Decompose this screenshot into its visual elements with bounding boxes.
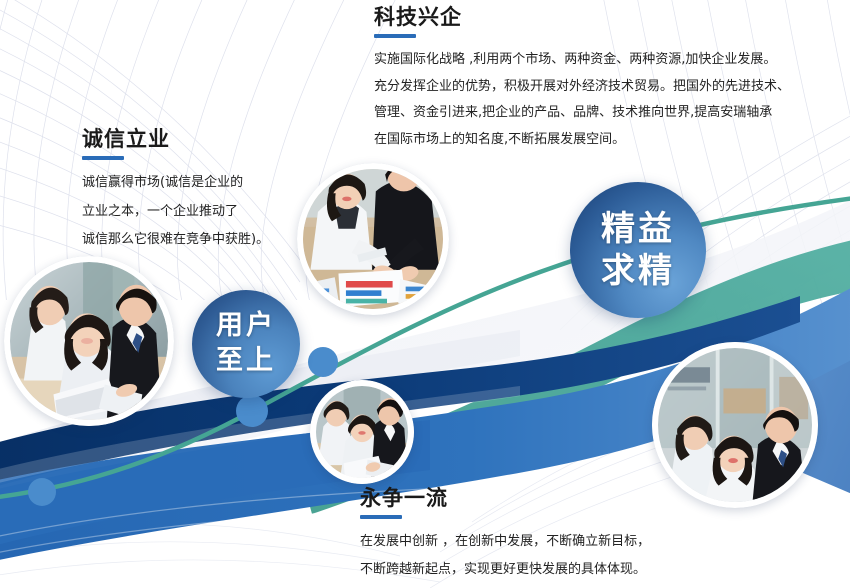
- badge-jingyi-line2: 求精: [601, 250, 675, 293]
- section-chengxin-liye: 诚信立业 诚信赢得市场(诚信是企业的 立业之本，一个企业推动了 诚信那么它很难在…: [82, 128, 269, 255]
- badge-jingyi-qiujing: 精益 求精: [570, 182, 706, 318]
- photo-circle-collaboration: [310, 380, 414, 484]
- section-yongzheng-yiliu: 永争一流 在发展中创新 ，在创新中发展，不断确立新目标， 不断跨越新起点，实现更…: [360, 487, 650, 584]
- section-keji-body: 实施国际化战略 ,利用两个市场、两种资金、两种资源,加快企业发展。 充分发挥企业…: [374, 47, 790, 154]
- section-keji-xingqi: 科技兴企 实施国际化战略 ,利用两个市场、两种资金、两种资源,加快企业发展。 充…: [374, 6, 790, 154]
- chengxin-line-1: 诚信赢得市场(诚信是企业的: [82, 169, 269, 198]
- photo-image-collaboration: [316, 386, 408, 478]
- photo-circle-charts-review: [297, 163, 449, 315]
- infographic-canvas: 用户 至上 精益 求精 科技兴企 实施国际化战略 ,利用两个市场、两种资金、两种…: [0, 0, 850, 588]
- keji-line-3: 管理、资金引进来,把企业的产品、品牌、技术推向世界,提高安瑞轴承: [374, 100, 790, 127]
- photo-image-charts-review: [303, 169, 443, 309]
- chengxin-accent-bar: [82, 156, 124, 160]
- badge-yonghu-zhishang: 用户 至上: [192, 290, 300, 398]
- keji-line-4: 在国际市场上的知名度,不断拓展发展空间。: [374, 127, 790, 154]
- yongzheng-accent-bar: [360, 515, 402, 519]
- section-chengxin-body: 诚信赢得市场(诚信是企业的 立业之本，一个企业推动了 诚信那么它很难在竞争中获胜…: [82, 169, 269, 255]
- yongzheng-line-1: 在发展中创新 ，在创新中发展，不断确立新目标，: [360, 528, 650, 556]
- yongzheng-line-2: 不断跨越新起点，实现更好更快发展的具体体现。: [360, 556, 650, 584]
- node-dot-2: [236, 395, 268, 427]
- keji-line-2: 充分发挥企业的优势，积极开展对外经济技术贸易。把国外的先进技术、: [374, 74, 790, 101]
- section-keji-heading: 科技兴企: [374, 6, 790, 29]
- keji-line-1: 实施国际化战略 ,利用两个市场、两种资金、两种资源,加快企业发展。: [374, 47, 790, 74]
- section-yongzheng-body: 在发展中创新 ，在创新中发展，不断确立新目标， 不断跨越新起点，实现更好更快发展…: [360, 528, 650, 584]
- node-dot-3: [308, 347, 338, 377]
- section-yongzheng-heading: 永争一流: [360, 487, 650, 510]
- photo-circle-office-team: [652, 342, 818, 508]
- photo-image-team-desk: [10, 262, 168, 420]
- section-chengxin-heading: 诚信立业: [82, 128, 269, 151]
- badge-yonghu-line1: 用户: [216, 309, 276, 344]
- node-dot-1: [28, 478, 56, 506]
- photo-circle-team-desk: [4, 256, 174, 426]
- keji-accent-bar: [374, 34, 416, 38]
- badge-yonghu-line2: 至上: [216, 344, 276, 379]
- chengxin-line-3: 诚信那么它很难在竞争中获胜)。: [82, 226, 269, 255]
- chengxin-line-2: 立业之本，一个企业推动了: [82, 198, 269, 227]
- badge-jingyi-line1: 精益: [601, 208, 675, 251]
- photo-image-office-team: [658, 348, 812, 502]
